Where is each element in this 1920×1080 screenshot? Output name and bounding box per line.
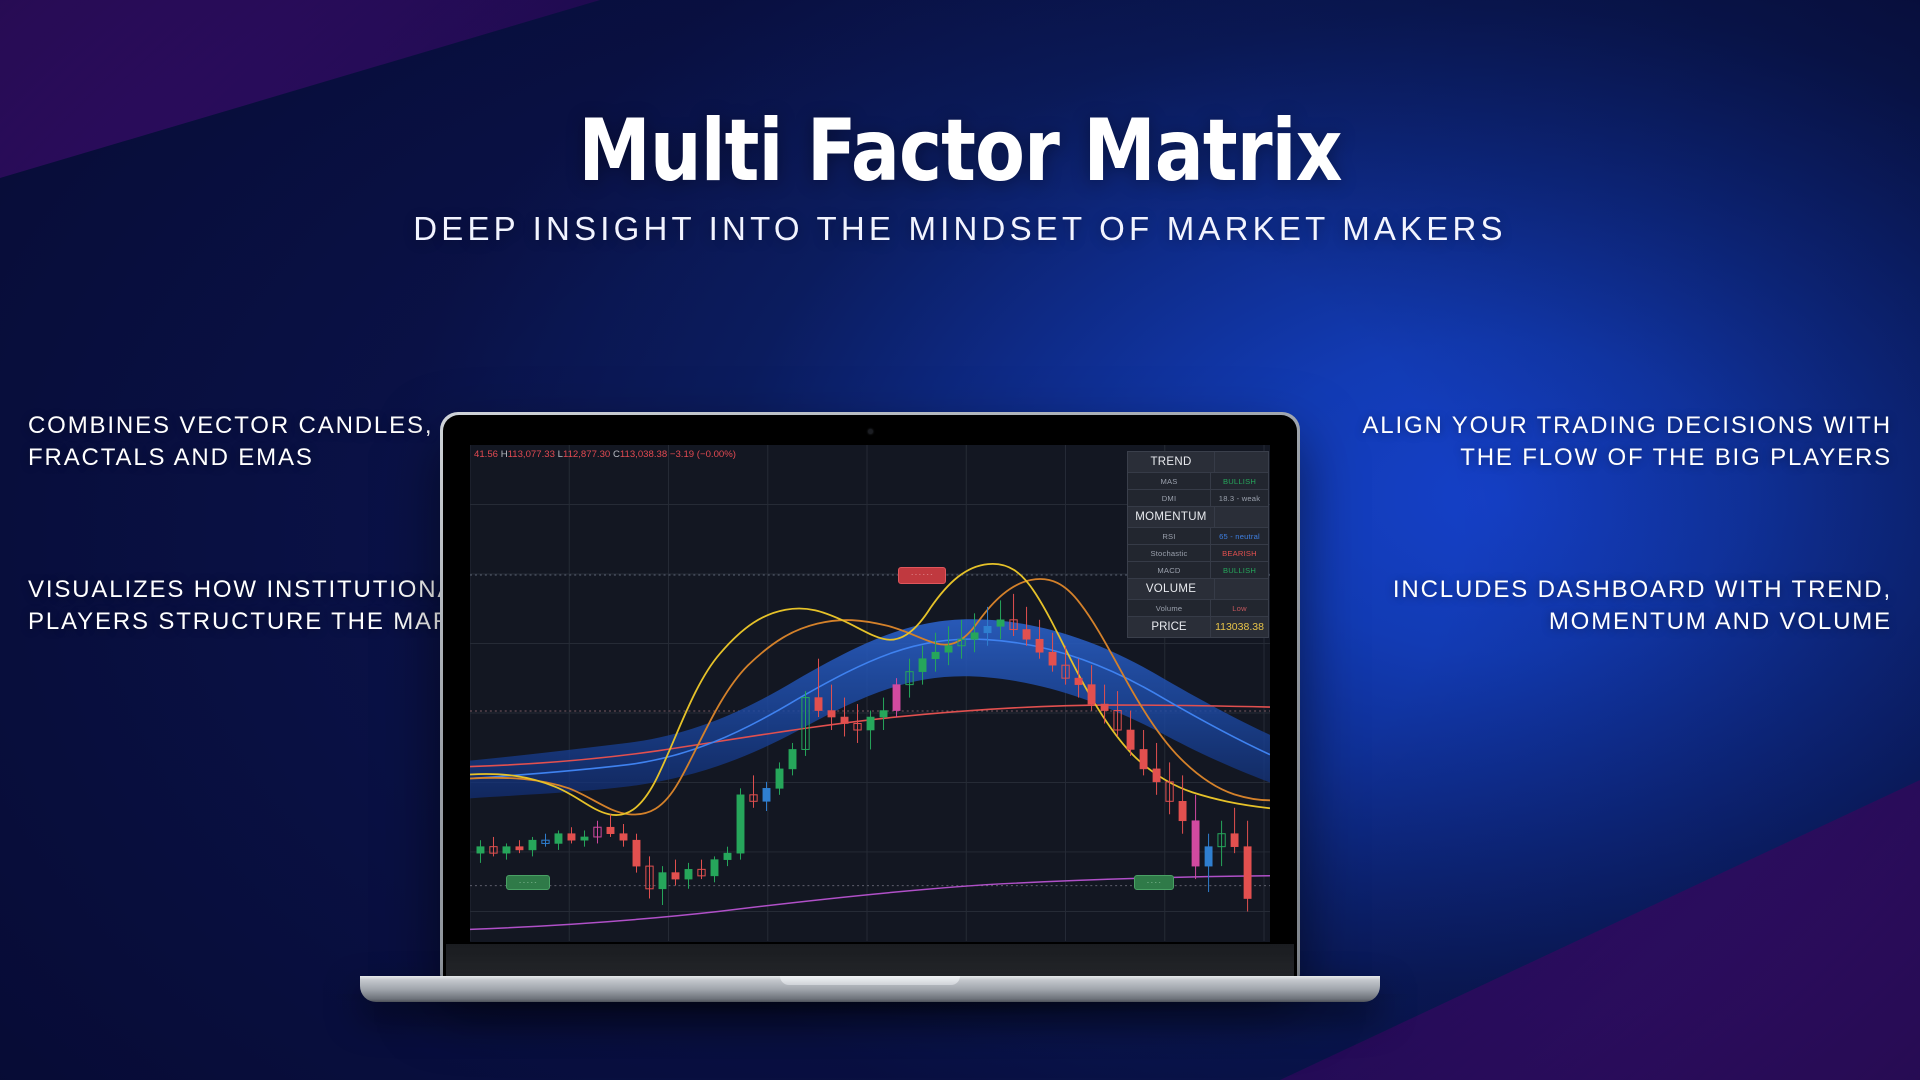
candle-body [1244,847,1251,899]
page-title: Multi Factor Matrix [58,108,1863,194]
candle-body [776,769,783,788]
laptop-bezel: 41.56 H113,077.33 L112,877.30 C113,038.3… [443,415,1297,980]
candle-body [1023,630,1030,640]
dashboard-row-value: 65 - neutral [1210,528,1268,544]
dashboard-price-row: PRICE113038.38 [1128,617,1268,637]
dashboard-row: MACDBULLISH [1128,562,1268,579]
dashboard-row-key: RSI [1128,528,1210,544]
ohlc-high: 113,077.33 [508,449,555,460]
ohlc-low: 112,877.30 [563,449,610,460]
candle-body [711,860,718,876]
dashboard-row: RSI65 - neutral [1128,528,1268,545]
dashboard-row-key: MAS [1128,473,1210,489]
dashboard-section-title: VOLUME [1128,579,1214,599]
candle-body [1192,821,1199,866]
candle-body [789,749,796,768]
ohlc-high-label: H [501,449,508,460]
candle-body [503,847,510,853]
candle-body [1179,801,1186,820]
dashboard-row-value: BULLISH [1210,562,1268,578]
candle-body [737,795,744,853]
dashboard-row: VolumeLow [1128,600,1268,617]
candle-body [1101,704,1108,710]
candle-body [763,788,770,801]
feature-item: ALIGN YOUR TRADING DECISIONS WITH THE FL… [1362,410,1892,474]
candle-body [659,873,666,889]
dashboard-section-spacer [1214,507,1268,527]
candle-body [633,840,640,866]
buy-signal-tag[interactable]: - - - - [1134,875,1174,890]
trading-chart-screen[interactable]: 41.56 H113,077.33 L112,877.30 C113,038.3… [470,445,1270,942]
candle-body [1205,847,1212,866]
laptop-base [360,976,1380,1002]
price-label: PRICE [1128,617,1210,637]
candle-body [828,711,835,717]
feature-list-right: ALIGN YOUR TRADING DECISIONS WITH THE FL… [1362,410,1892,638]
candle-body [581,837,588,840]
candle-body [1088,685,1095,704]
ohlc-close: 113,038.38 [620,449,667,460]
laptop-chin [446,944,1294,980]
sell-signal-tag[interactable]: - - - - - - [898,567,946,584]
dashboard-row-key: MACD [1128,562,1210,578]
buy-signal-label: - - - - - [519,880,536,886]
dashboard-row-value: 18.3 - weak [1210,490,1268,506]
page-subtitle: DEEP INSIGHT INTO THE MINDSET OF MARKET … [0,212,1920,245]
candle-body [971,633,978,639]
candle-body [685,869,692,879]
candle-body [477,847,484,853]
laptop-lid: 41.56 H113,077.33 L112,877.30 C113,038.3… [440,412,1300,980]
candle-body [1049,652,1056,665]
candle-body [1036,639,1043,652]
candle-body [867,717,874,730]
ohlc-close-label: C [613,449,620,460]
candle-body [893,685,900,711]
candle-body [568,834,575,840]
candle-body [724,853,731,859]
dashboard-section-header: MOMENTUM [1128,507,1268,528]
candle-body [1231,834,1238,847]
dashboard-section-spacer [1214,579,1268,599]
dashboard-row-value: Low [1210,600,1268,616]
laptop-mockup: 41.56 H113,077.33 L112,877.30 C113,038.3… [440,412,1300,1002]
dashboard-row: StochasticBEARISH [1128,545,1268,562]
buy-signal-label: - - - - [1147,880,1161,886]
ohlc-change: −3.19 (−0.00%) [670,449,736,460]
dashboard-row-value: BEARISH [1210,545,1268,561]
dashboard-section-header: TREND [1128,452,1268,473]
dashboard-section-header: VOLUME [1128,579,1268,600]
dashboard-section-spacer [1214,452,1268,472]
feature-item: INCLUDES DASHBOARD WITH TREND, MOMENTUM … [1362,574,1892,638]
candle-body [516,847,523,850]
candle-body [1127,730,1134,749]
candle-body [1140,749,1147,768]
dashboard-row-key: Volume [1128,600,1210,616]
webcam-icon [868,429,873,434]
candle-body [919,659,926,672]
price-value: 113038.38 [1210,617,1268,637]
candle-body [841,717,848,723]
sell-signal-label: - - - - - - [911,572,932,578]
dashboard-row-key: DMI [1128,490,1210,506]
candle-body [997,620,1004,626]
dashboard-row-value: BULLISH [1210,473,1268,489]
dashboard-row-key: Stochastic [1128,545,1210,561]
candle-body [984,626,991,632]
dashboard-row: MASBULLISH [1128,473,1268,490]
candle-body [1153,769,1160,782]
ohlc-legend: 41.56 H113,077.33 L112,877.30 C113,038.3… [474,449,736,460]
dashboard-section-title: TREND [1128,452,1214,472]
indicator-dashboard-panel[interactable]: TRENDMASBULLISHDMI18.3 - weakMOMENTUMRSI… [1127,451,1269,638]
candle-body [607,827,614,833]
candle-body [932,652,939,658]
dashboard-section-title: MOMENTUM [1128,507,1214,527]
candle-body [815,698,822,711]
ohlc-open: 41.56 [474,449,498,460]
buy-signal-tag[interactable]: - - - - - [506,875,550,890]
candle-body [945,646,952,652]
candle-body [880,711,887,717]
dashboard-row: DMI18.3 - weak [1128,490,1268,507]
candle-body [555,834,562,844]
candle-body [672,873,679,879]
ema-cloud-band [470,619,1270,798]
candle-body [529,840,536,850]
candle-body [620,834,627,840]
candle-body [1075,678,1082,684]
